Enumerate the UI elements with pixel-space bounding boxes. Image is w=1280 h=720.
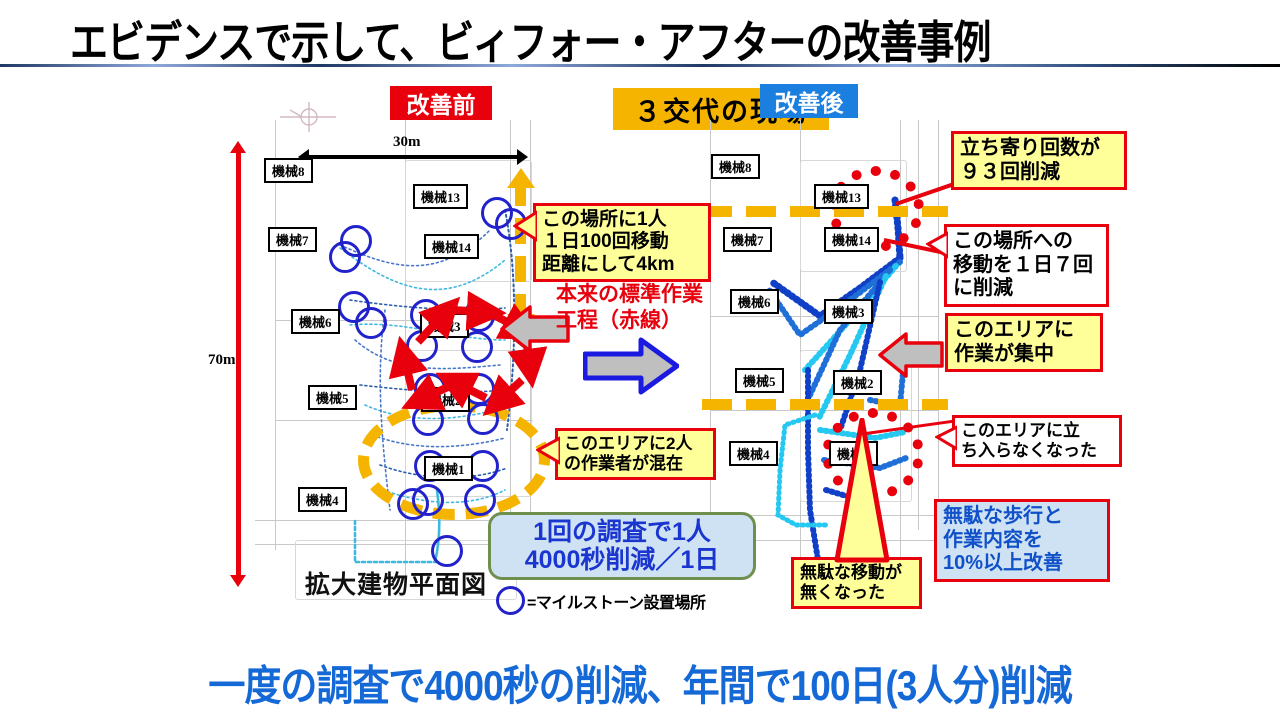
machine-label-text: 機械14 xyxy=(432,237,471,256)
machine-label-6: 機械6 xyxy=(730,289,779,314)
milestone-circle xyxy=(329,241,361,273)
milestone-circle xyxy=(464,484,496,516)
machine-label-14: 機械14 xyxy=(424,234,479,259)
grey-arrow-right-concentrated xyxy=(878,332,944,378)
callout-trips-reduced-tail xyxy=(926,231,948,261)
callout-no-entry-tail xyxy=(935,425,957,453)
callout-left-movement: この場所に1人 １日100回移動 距離にして4km xyxy=(533,203,711,282)
machine-label-text: 機械6 xyxy=(738,292,771,311)
machine-label-4: 機械4 xyxy=(729,441,778,466)
slide-root: エビデンスで示して、ビィフォー・アフターの改善事例 改善前 ３交代の現場 改善後 xyxy=(0,0,1280,720)
callout-no-entry-area: このエリアに立 ち入らなくなった xyxy=(952,415,1122,467)
milestone-legend: =マイルストーン設置場所 xyxy=(496,586,706,615)
callout-left-mixed-workers-tail xyxy=(536,436,560,466)
milestone-circle xyxy=(431,535,463,567)
machine-label-text: 機械4 xyxy=(306,490,339,509)
machine-label-text: 機械3 xyxy=(832,302,865,321)
callout-no-wasted-movement-tail xyxy=(832,418,892,564)
milestone-circle xyxy=(397,488,429,520)
machine-label-text: 機械5 xyxy=(743,371,776,390)
machine-label-text: 機械5 xyxy=(316,388,349,407)
machine-label-text: 機械2 xyxy=(841,373,874,392)
machine-label-text: 機械13 xyxy=(421,187,460,206)
title-divider xyxy=(0,64,1280,67)
machine-label-text: 機械13 xyxy=(822,187,861,206)
machine-label-8: 機械8 xyxy=(711,154,760,179)
badge-before: 改善前 xyxy=(390,86,492,120)
dimension-label-height: 70m xyxy=(208,352,236,369)
machine-label-1: 機械1 xyxy=(424,456,473,481)
callout-no-wasted-movement: 無駄な移動が 無くなった xyxy=(791,557,922,609)
transition-arrow xyxy=(583,337,679,395)
red-standard-process-note: 本来の標準作業 工程（赤線） xyxy=(556,282,703,333)
callout-left-mixed-workers: このエリアに2人 の作業者が混在 xyxy=(555,428,716,480)
dimension-arrow-vertical xyxy=(236,152,241,576)
machine-label-14: 機械14 xyxy=(824,227,879,252)
north-marker-icon xyxy=(278,100,340,139)
machine-label-text: 機械6 xyxy=(299,312,332,331)
machine-label-text: 機械8 xyxy=(719,157,752,176)
dimension-label-width: 30m xyxy=(393,134,421,151)
callout-trips-reduced: この場所への 移動を１日７回 に削減 xyxy=(944,224,1109,307)
machine-label-13: 機械13 xyxy=(413,184,468,209)
callout-work-concentrated: このエリアに 作業が集中 xyxy=(945,313,1103,372)
machine-label-8: 機械8 xyxy=(264,158,313,183)
machine-label-2: 機械2 xyxy=(833,370,882,395)
callout-left-movement-tail xyxy=(513,210,537,244)
machine-label-text: 機械8 xyxy=(272,161,305,180)
callout-improvement-percent: 無駄な歩行と 作業内容を 10%以上改善 xyxy=(934,499,1110,582)
milestone-circle-icon xyxy=(496,586,525,615)
machine-label-13: 機械13 xyxy=(814,184,869,209)
callout-visit-count-reduced: 立ち寄り回数が ９３回削減 xyxy=(951,131,1127,190)
machine-label-4: 機械4 xyxy=(298,487,347,512)
badge-after: 改善後 xyxy=(760,84,858,118)
conclusion-text: 一度の調査で4000秒の削減、年間で100日(3人分)削減 xyxy=(0,652,1280,712)
plan-caption: 拡大建物平面図 xyxy=(305,565,487,601)
machine-label-text: 機械1 xyxy=(432,459,465,478)
machine-label-3: 機械3 xyxy=(824,299,873,324)
page-title: エビデンスで示して、ビィフォー・アフターの改善事例 xyxy=(70,6,990,71)
milestone-legend-label: =マイルストーン設置場所 xyxy=(527,589,706,613)
machine-label-6: 機械6 xyxy=(291,309,340,334)
machine-label-5: 機械5 xyxy=(735,368,784,393)
machine-label-text: 機械7 xyxy=(731,230,764,249)
machine-label-text: 機械14 xyxy=(832,230,871,249)
machine-label-text: 機械7 xyxy=(276,230,309,249)
dimension-arrow-horizontal xyxy=(308,155,518,159)
machine-label-7: 機械7 xyxy=(268,227,317,252)
right-orange-boundary-bottom xyxy=(702,399,948,410)
summary-box: 1回の調査で1人 4000秒削減／1日 xyxy=(488,512,756,580)
machine-label-text: 機械4 xyxy=(737,444,770,463)
machine-label-7: 機械7 xyxy=(723,227,772,252)
machine-label-5: 機械5 xyxy=(308,385,357,410)
